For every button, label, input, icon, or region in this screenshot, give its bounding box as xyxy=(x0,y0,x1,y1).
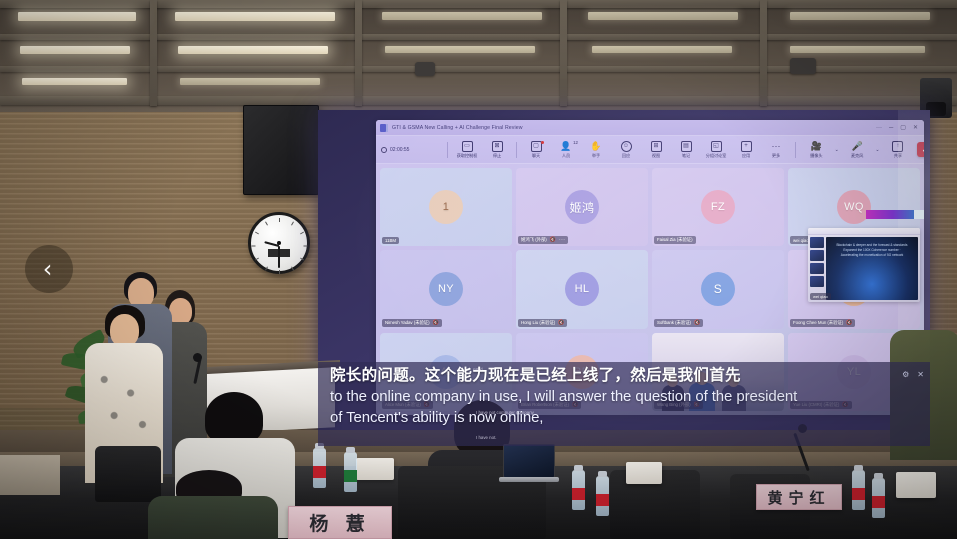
slide-toolbar xyxy=(808,228,920,235)
person-foreground-left xyxy=(148,470,278,539)
toolbar-label: 视图 xyxy=(652,153,660,159)
projection-screen: GTI & GSMA New Calling + AI Challenge Fi… xyxy=(318,110,930,458)
view-grid-icon: ⊞ xyxy=(651,141,662,152)
participant-nameplate: Softbank (未验证) 🔇 xyxy=(654,319,703,327)
participant-nameplate: 11BM xyxy=(382,237,399,244)
participant-name: 姬鸿飞 (外部) xyxy=(521,237,547,243)
window-title: GTI & GSMA New Calling + AI Challenge Fi… xyxy=(392,125,523,131)
water-bottle xyxy=(872,478,885,518)
notes-icon: ▤ xyxy=(681,141,692,152)
close-icon[interactable]: ✕ xyxy=(917,370,924,379)
more-ellipsis-icon[interactable]: ··· xyxy=(559,237,566,243)
microphone-icon: 🎤 xyxy=(852,141,863,152)
apps-add-icon: + xyxy=(741,141,752,152)
microphone-toggle[interactable]: 🎤 麦克风 xyxy=(843,141,872,159)
participant-name: Faisal Zia (未验证) xyxy=(657,237,693,243)
ceiling xyxy=(0,0,957,112)
desk-nameplate-right: 黄宁红 xyxy=(756,484,842,510)
water-bottle xyxy=(596,476,609,516)
toolbar-label: 回应 xyxy=(622,153,630,159)
toolbar-item-stop[interactable]: ⊠ 停止 xyxy=(482,141,512,159)
minimize-icon[interactable]: ─ xyxy=(889,125,893,131)
chat-icon: ▢ xyxy=(531,141,542,152)
mic-label: 麦克风 xyxy=(851,153,863,159)
mic-chevron-down-icon[interactable]: ⌄ xyxy=(873,147,881,153)
participant-name: Foong Chee Mun (未验证) xyxy=(793,320,843,326)
toolbar-items[interactable]: ▭ 获取控制权 ⊠ 停止 ▢ 聊天 12 👤 xyxy=(452,141,791,159)
avatar: S xyxy=(701,272,735,306)
toolbar-label: 获取控制权 xyxy=(457,153,477,159)
teams-title-bar: GTI & GSMA New Calling + AI Challenge Fi… xyxy=(376,120,924,136)
people-icon: 👤 xyxy=(561,141,572,152)
participant-tile[interactable]: 姬鸿 姬鸿飞 (外部) 🔇 ··· xyxy=(516,168,648,246)
water-bottle xyxy=(572,470,585,510)
participant-nameplate: Hong Liu (未验证) 🔇 xyxy=(518,319,567,327)
wall-clock xyxy=(248,212,310,274)
participant-tile[interactable]: HL Hong Liu (未验证) 🔇 xyxy=(516,250,648,328)
toolbar-item-apps[interactable]: + 应用 xyxy=(731,141,761,159)
toolbar-item-screen-control[interactable]: ▭ 获取控制权 xyxy=(452,141,482,159)
slide-thumbnail[interactable] xyxy=(810,237,824,248)
meeting-toolbar[interactable]: 02:00:55 ▭ 获取控制权 ⊠ 停止 ▢ xyxy=(376,136,924,164)
toolbar-label: 人员 xyxy=(562,153,570,159)
slide-thumbnail-rail[interactable] xyxy=(810,237,824,300)
toolbar-item-view[interactable]: ⊞ 视图 xyxy=(641,141,671,159)
toolbar-item-raise-hand[interactable]: ✋ 举手 xyxy=(581,141,611,159)
meeting-timer: 02:00:55 xyxy=(381,147,443,153)
desk-nameplate-left: 杨 薏 xyxy=(288,506,392,539)
live-captions: 院长的问题。这个能力现在是已经上线了，然后是我们首先 to the online… xyxy=(318,362,930,446)
toolbar-item-more[interactable]: ··· 更多 xyxy=(761,141,791,159)
water-bottle xyxy=(313,448,326,488)
toolbar-label: 更多 xyxy=(772,153,780,159)
participant-name: wei qiao xyxy=(793,238,809,243)
slide-color-bar xyxy=(866,210,920,219)
mic-muted-icon: 🔇 xyxy=(558,320,564,326)
avatar: NY xyxy=(429,272,463,306)
slide-thumbnail[interactable] xyxy=(810,263,824,274)
toolbar-label: 分组讨论室 xyxy=(706,153,726,159)
slide-thumbnail[interactable] xyxy=(810,250,824,261)
toolbar-item-breakout[interactable]: ◱ 分组讨论室 xyxy=(701,141,731,159)
tissue-box xyxy=(896,472,936,498)
slide-presenter-name: wei qiao xyxy=(810,293,831,300)
conference-room-photo: GTI & GSMA New Calling + AI Challenge Fi… xyxy=(0,0,957,539)
water-bottle xyxy=(344,452,357,492)
toolbar-label: 应用 xyxy=(742,153,750,159)
toolbar-item-people[interactable]: 12 👤 人员 xyxy=(551,141,581,159)
toolbar-item-chat[interactable]: ▢ 聊天 xyxy=(521,141,551,159)
recording-icon xyxy=(381,147,387,153)
document-stack xyxy=(0,455,60,495)
participant-name: Softbank (未验证) xyxy=(657,320,691,326)
toolbar-label: 停止 xyxy=(493,153,501,159)
slide-color-swatch xyxy=(914,210,924,219)
timer-value: 02:00:55 xyxy=(390,147,409,153)
mic-muted-icon: 🔇 xyxy=(550,237,556,243)
participant-nameplate: Faisal Zia (未验证) xyxy=(654,236,696,244)
previous-photo-button[interactable]: ‹ xyxy=(25,245,73,293)
avatar: HL xyxy=(565,272,599,306)
stop-present-icon: ⊠ xyxy=(492,141,503,152)
camera-off-icon: 🎥 xyxy=(811,141,822,152)
participant-tile[interactable]: NY Nimesh Yadav (未验证) 🔇 xyxy=(380,250,512,328)
participant-name: 11BM xyxy=(385,238,396,243)
participant-tile[interactable]: 1 11BM xyxy=(380,168,512,246)
caption-english-line-1: to the online company in use, I will ans… xyxy=(330,386,918,407)
chevron-left-icon: ‹ xyxy=(43,257,53,281)
mic-muted-icon: 🔇 xyxy=(694,320,700,326)
caption-controls[interactable]: ⚙ ✕ xyxy=(902,370,924,379)
camera-toggle[interactable]: 🎥 摄像头 xyxy=(802,141,831,159)
water-bottle xyxy=(852,470,865,510)
toolbar-item-reactions[interactable]: ☺ 回应 xyxy=(611,141,641,159)
avatar: 1 xyxy=(429,190,463,224)
participant-name: Hong Liu (未验证) xyxy=(521,320,555,326)
toolbar-item-notes[interactable]: ▤ 笔记 xyxy=(671,141,701,159)
screen-control-icon: ▭ xyxy=(462,141,473,152)
tissue-box xyxy=(356,458,394,480)
participant-name: Nimesh Yadav (未验证) xyxy=(385,320,430,326)
teams-logo-icon xyxy=(380,124,388,132)
reactions-icon: ☺ xyxy=(621,141,632,152)
slide-text: Blockchain & deeper and the forecast & s… xyxy=(830,243,914,258)
tissue-box xyxy=(626,462,662,484)
avatar: FZ xyxy=(701,190,735,224)
caption-chinese: 院长的问题。这个能力现在是已经上线了，然后是我们首先 xyxy=(330,366,918,386)
participant-nameplate: Foong Chee Mun (未验证) 🔇 xyxy=(790,319,855,327)
participant-nameplate: 姬鸿飞 (外部) 🔇 ··· xyxy=(518,236,568,244)
camera-label: 摄像头 xyxy=(810,153,822,159)
raise-hand-icon: ✋ xyxy=(591,141,602,152)
slide-thumbnail[interactable] xyxy=(810,276,824,287)
participant-nameplate: Nimesh Yadav (未验证) 🔇 xyxy=(382,319,442,327)
people-count: 12 xyxy=(573,140,578,145)
breakout-rooms-icon: ◱ xyxy=(711,141,722,152)
gear-icon[interactable]: ⚙ xyxy=(902,370,909,379)
chat-note: I have not. xyxy=(476,435,497,440)
mic-muted-icon: 🔇 xyxy=(846,320,852,326)
camera-chevron-down-icon[interactable]: ⌄ xyxy=(833,147,841,153)
slide-canvas: Blockchain & deeper and the forecast & s… xyxy=(826,237,918,300)
chat-note: n8kd xyxy=(473,367,483,372)
shared-slide-preview[interactable]: Blockchain & deeper and the forecast & s… xyxy=(808,228,920,302)
participant-tile[interactable]: S Softbank (未验证) 🔇 xyxy=(652,250,784,328)
toolbar-label: 聊天 xyxy=(532,153,540,159)
more-icon[interactable]: ··· xyxy=(876,125,882,131)
wall-speaker xyxy=(243,105,319,195)
toolbar-label: 举手 xyxy=(592,153,600,159)
avatar: 姬鸿 xyxy=(565,190,599,224)
chat-note: I have not computer company xyxy=(476,410,534,415)
mic-muted-icon: 🔇 xyxy=(433,320,439,326)
avatar: WQ xyxy=(837,190,871,224)
clock-minute-hand xyxy=(278,246,280,268)
caption-english-line-2: of Tencent's ability is now online, xyxy=(330,407,918,428)
chat-unread-dot xyxy=(541,141,544,144)
participant-tile[interactable]: FZ Faisal Zia (未验证) xyxy=(652,168,784,246)
slide-line-3: Accelerating the monetization of 5G netw… xyxy=(830,253,914,258)
more-ellipsis-icon: ··· xyxy=(771,141,782,152)
toolbar-label: 笔记 xyxy=(682,153,690,159)
